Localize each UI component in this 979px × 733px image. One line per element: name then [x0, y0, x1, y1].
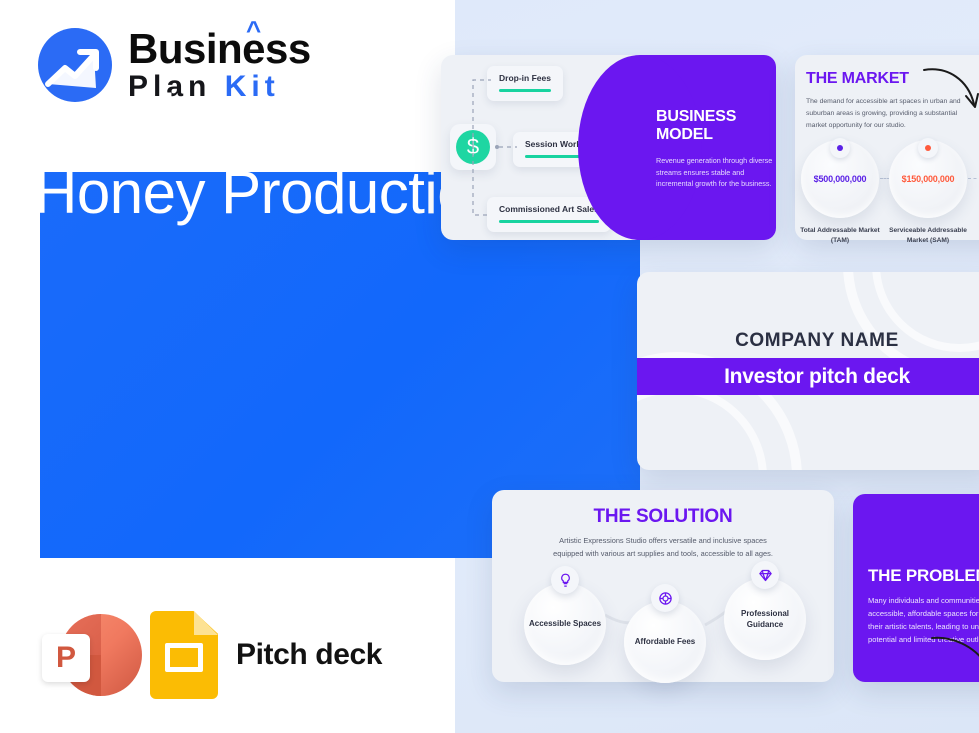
google-slides-icon: [150, 611, 218, 699]
market-metric: $150,000,000 Serviceable Addressable Mar…: [884, 140, 972, 245]
business-model-body: Revenue generation through diverse strea…: [656, 155, 774, 190]
market-metric-circle: $500,000,000: [801, 140, 879, 218]
market-dot-badge: [830, 138, 850, 158]
company-name: COMPANY NAME: [637, 330, 979, 352]
curved-arrow-icon: [922, 64, 979, 112]
solution-item[interactable]: Affordable Fees: [624, 601, 706, 683]
solution-body: Artistic Expressions Studio offers versa…: [552, 535, 774, 560]
investor-pitch-label: Investor pitch deck: [724, 365, 910, 389]
solution-item-label: Affordable Fees: [635, 636, 695, 647]
market-dot-badge: [918, 138, 938, 158]
solution-title: THE SOLUTION: [492, 506, 834, 528]
market-metric-circle: $150,000,000: [889, 140, 967, 218]
format-label: Pitch deck: [236, 638, 382, 672]
powerpoint-glyph: P: [42, 634, 90, 682]
powerpoint-icon: P: [38, 608, 132, 702]
solution-item-label: Professional Guidance: [724, 608, 806, 630]
market-metric-value: $500,000,000: [814, 174, 867, 184]
solution-item[interactable]: Professional Guidance: [724, 578, 806, 660]
problem-swoosh-icon: [930, 634, 979, 666]
business-model-connectors: [441, 55, 776, 240]
market-metric-label: Total Addressable Market (TAM): [796, 226, 884, 245]
business-model-title: BUSINESS MODEL: [656, 108, 776, 144]
format-row: P Pitch deck: [38, 608, 382, 702]
market-title: THE MARKET: [806, 70, 909, 88]
market-metric-value: $150,000,000: [902, 174, 955, 184]
solution-item[interactable]: Accessible Spaces: [524, 583, 606, 665]
logo-line-business: Business ^: [128, 28, 311, 70]
market-metric: $500,000,000 Total Addressable Market (T…: [796, 140, 884, 245]
diamond-icon: [751, 561, 779, 589]
lightbulb-icon: [551, 566, 579, 594]
investor-pitch-band: Investor pitch deck: [637, 358, 979, 395]
poster-canvas: Business ^ Plan Kit Local Organic Honey …: [0, 0, 979, 733]
market-metric-label: Serviceable Addressable Market (SAM): [884, 226, 972, 245]
solution-item-label: Accessible Spaces: [529, 618, 601, 629]
logo-word-business: Business: [128, 25, 311, 72]
target-circle-icon: [651, 584, 679, 612]
problem-title: THE PROBLEM: [868, 566, 979, 586]
logo-circumflex-icon: ^: [246, 17, 261, 43]
